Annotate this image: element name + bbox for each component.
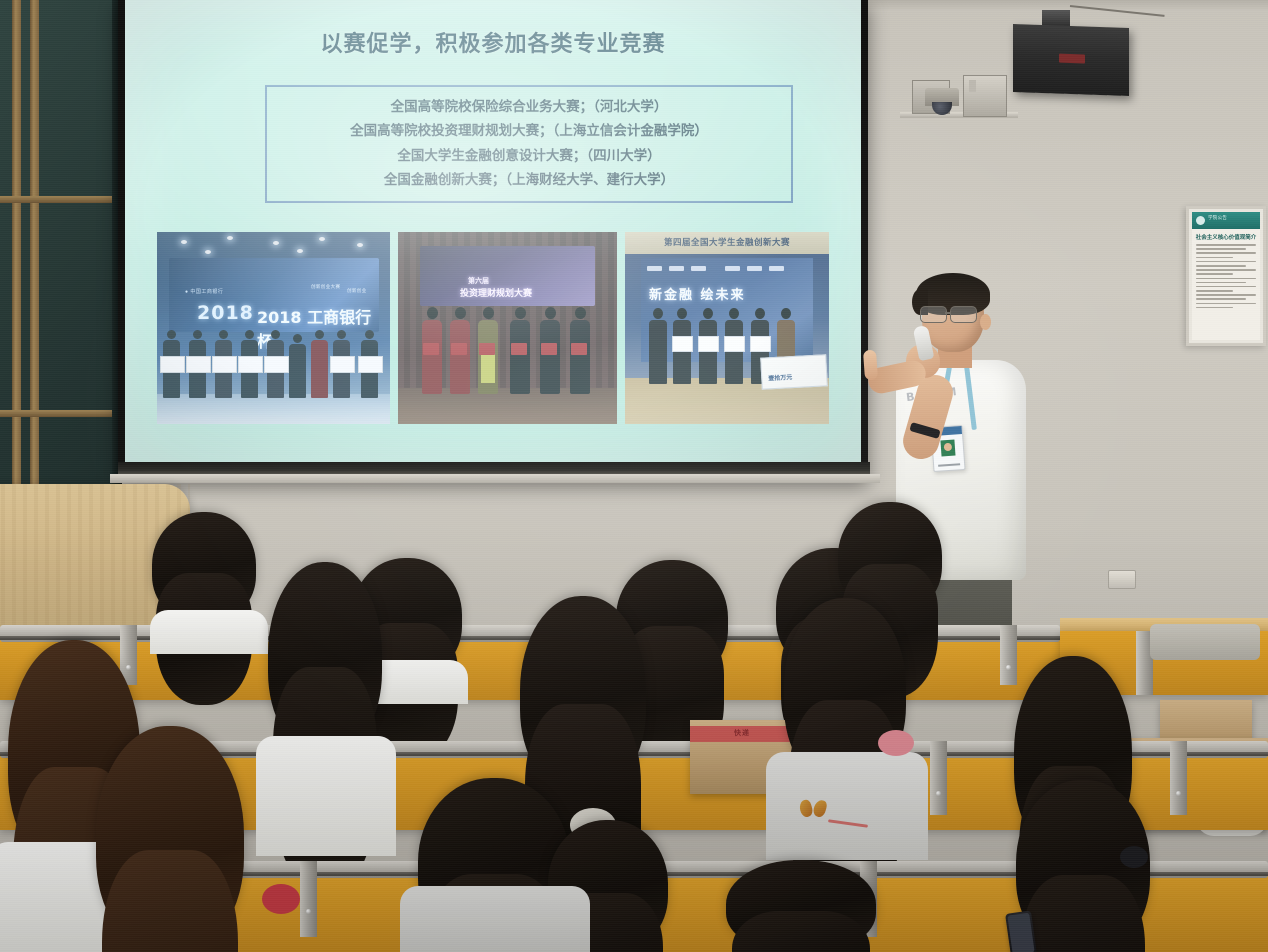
audience-head [268,562,382,752]
notice-body-lines [1192,244,1260,308]
audience-shirt [150,610,268,654]
photo3-banner: 第四届全国大学生金融创新大赛 [625,232,829,254]
photo3-oversized-check: 壹拾万元 [760,354,828,389]
hair-clip [1120,846,1148,868]
slide-line-2: 全国高等院校投资理财规划大赛；（上海立信会计金融学院） [350,120,708,143]
slide-line-3: 全国大学生金融创意设计大赛；（四川大学） [397,145,660,168]
electrical-box-right [963,75,1007,117]
photo-award-ceremony-blue: ● 中国工商银行 2018 2018 工商银行杯 创新创业大赛 创新创业 [157,232,390,424]
slide-photo-row: ● 中国工商银行 2018 2018 工商银行杯 创新创业大赛 创新创业 [157,232,829,424]
notice-title: 社会主义核心价值观简介 [1192,229,1260,244]
dome-security-camera-icon [925,88,959,106]
projection-screen: 以赛促学，积极参加各类专业竞赛 全国高等院校保险综合业务大赛；（河北大学） 全国… [125,0,861,468]
slide-title: 以赛促学，积极参加各类专业竞赛 [125,26,861,58]
cloth-bundle [1150,624,1260,660]
eyeglasses-icon [920,306,986,322]
audience-shirt [256,736,396,856]
audience-shirt [400,886,590,952]
slide-line-1: 全国高等院校保险综合业务大赛；（河北大学） [391,96,668,119]
lecture-hall-photo: 以赛促学，积极参加各类专业竞赛 全国高等院校保险综合业务大赛；（河北大学） 全国… [0,0,1268,952]
screen-shelf [110,474,880,483]
photo1-side-tag: 创新创业大赛 [311,284,340,290]
slide-line-4: 全国金融创新大赛；（上海财经大学、建行大学） [384,169,674,192]
photo1-side-tag-2: 创新创业 [347,288,367,294]
photo2-people [420,284,600,394]
presentation-slide: 以赛促学，积极参加各类专业竞赛 全国高等院校保险综合业务大赛；（河北大学） 全国… [125,0,861,468]
notice-header: 学院公告 [1192,212,1260,229]
stage-lights [157,232,390,258]
photo3-banner-text: 第四届全国大学生金融创新大赛 [625,232,829,254]
audience-head [152,512,256,622]
audience-head [96,726,244,952]
pointing-finger [863,350,878,381]
speaker-logo-badge [1059,54,1085,64]
audience-head [726,860,876,952]
photo3-sponsor-logos [647,264,807,272]
photo-award-ceremony-banner: 第四届全国大学生金融创新大赛 新金融 绘未来 [625,232,829,424]
butterfly-print-icon [800,800,826,818]
red-scrunchie [262,884,300,914]
photo3-check-amount: 壹拾万元 [768,372,792,382]
wall-notice-board: 学院公告 社会主义核心价值观简介 [1186,206,1266,346]
pink-scrunchie [878,730,914,756]
audience-head [838,502,942,614]
slide-textbox: 全国高等院校保险综合业务大赛；（河北大学） 全国高等院校投资理财规划大赛；（上海… [265,85,793,203]
box-tape-text: 快递 [734,728,750,738]
notice-emblem-icon [1196,216,1205,225]
audience-head [520,596,646,792]
photo1-stage-floor [157,394,390,424]
photo1-sponsor-logo: ● 中国工商银行 [185,288,223,295]
butterfly-print-shirt [766,752,928,860]
wall-outlet [1108,570,1136,589]
photo-award-ceremony-red: 第六届 投资理财规划大赛 [398,232,617,424]
wall-speaker [1013,24,1129,96]
photo1-people [161,302,387,398]
notice-header-label: 学院公告 [1208,215,1227,221]
blackboard [0,0,120,500]
